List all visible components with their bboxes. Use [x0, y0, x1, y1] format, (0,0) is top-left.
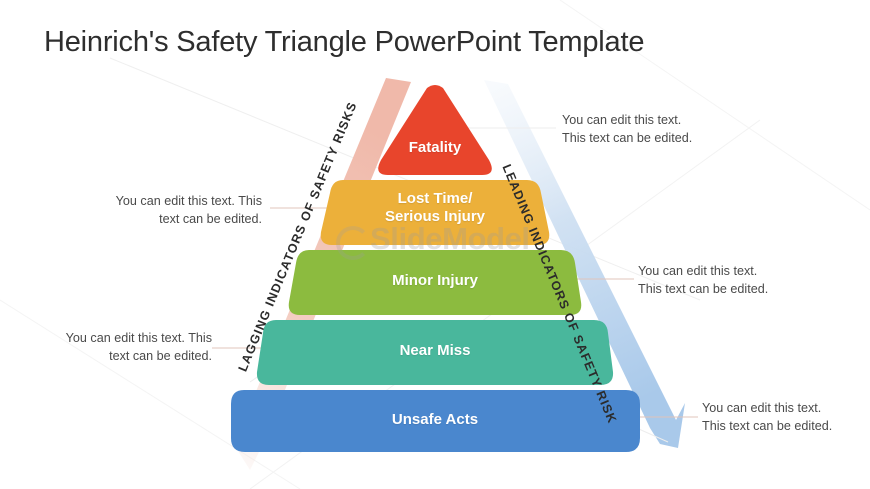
callout-text-4[interactable]: You can edit this text. This text can be… [14, 330, 212, 366]
pyramid-layer-minor-injury[interactable] [289, 250, 582, 315]
slide-canvas: Heinrich's Safety Triangle PowerPoint Te… [0, 0, 870, 489]
callout-text-5[interactable]: You can edit this text. This text can be… [702, 400, 870, 436]
callout-text-1[interactable]: You can edit this text. This text can be… [562, 112, 767, 148]
pyramid-layer-lost-time[interactable] [321, 180, 550, 245]
callout-text-3[interactable]: You can edit this text. This text can be… [638, 263, 843, 299]
callout-text-2[interactable]: You can edit this text. This text can be… [78, 193, 262, 229]
pyramid-layer-unsafe-acts[interactable] [231, 390, 640, 452]
pyramid-layer-near-miss[interactable] [257, 320, 613, 385]
